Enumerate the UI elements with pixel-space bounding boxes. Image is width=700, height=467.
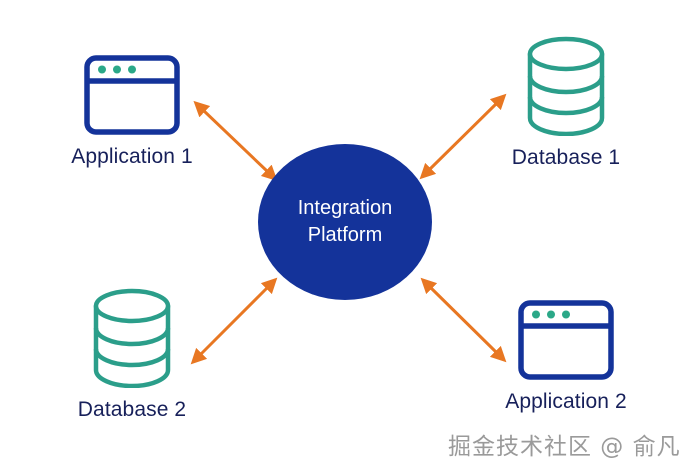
application-window-icon: [518, 300, 614, 380]
node-application-2[interactable]: Application 2: [490, 300, 642, 414]
node-label-application-1: Application 1: [71, 145, 193, 169]
connector-app2-hub: [430, 287, 497, 353]
hub-label-line1: Integration: [298, 195, 393, 222]
node-label-database-2: Database 2: [78, 398, 186, 422]
integration-platform-hub[interactable]: Integration Platform: [258, 144, 432, 300]
hub-label-line2: Platform: [308, 222, 382, 249]
diagram-canvas: Integration Platform Application 1 Data: [0, 0, 700, 467]
node-label-database-1: Database 1: [512, 146, 620, 170]
node-label-application-2: Application 2: [505, 390, 627, 414]
node-database-1[interactable]: Database 1: [490, 36, 642, 170]
application-window-icon: [84, 55, 180, 135]
watermark-text: 掘金技术社区 @ 俞凡: [448, 427, 681, 461]
connector-app1-hub: [203, 110, 268, 172]
database-cylinder-icon: [522, 36, 610, 136]
connector-db2-hub: [200, 287, 268, 355]
database-cylinder-icon: [88, 288, 176, 388]
connector-db1-hub: [429, 103, 497, 170]
node-application-1[interactable]: Application 1: [56, 55, 208, 169]
node-database-2[interactable]: Database 2: [56, 288, 208, 422]
